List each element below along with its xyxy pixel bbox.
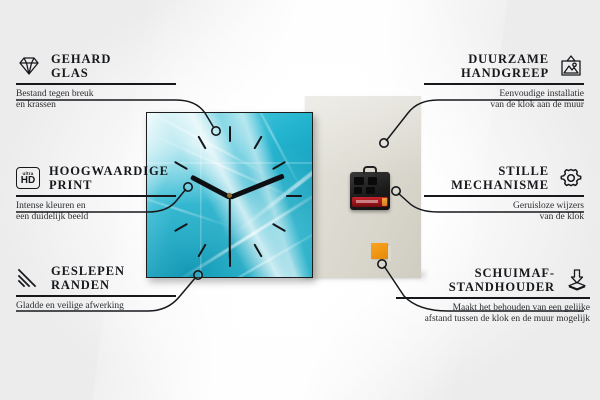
feature-header: GESLEPEN RANDEN <box>16 264 192 292</box>
feature-desc-line1: Maakt het behouden van een gelijke <box>380 303 590 315</box>
feature-desc-line1: Intense kleuren en <box>16 201 192 213</box>
movement-detail <box>354 177 364 185</box>
battery <box>352 197 388 207</box>
feature-stille-mechanisme[interactable]: STILLE MECHANISME Geruisloze wijzers van… <box>408 164 584 224</box>
feature-desc-line2: en krassen <box>16 100 188 112</box>
hour-marker-12 <box>229 126 231 142</box>
feature-divider <box>396 297 590 299</box>
feature-title: STILLE MECHANISME <box>451 164 549 192</box>
feature-desc-line1: Gladde en veilige afwerking <box>16 301 192 313</box>
feature-title: GEHARD GLAS <box>51 52 111 80</box>
feature-desc-line1: Geruisloze wijzers <box>408 201 584 213</box>
feature-schuimafstandhouder[interactable]: SCHUIMAF- STANDHOUDER Maakt het behouden… <box>380 266 590 326</box>
feature-desc-line2: afstand tussen de klok en de muur mogeli… <box>380 314 590 326</box>
movement-detail <box>354 187 362 194</box>
movement-hanger <box>363 166 377 174</box>
feature-title: HOOGWAARDIGE PRINT <box>49 164 169 192</box>
feature-hoogwaardige-print[interactable]: ultra HD HOOGWAARDIGE PRINT Intense kleu… <box>16 164 192 224</box>
foam-spacer-pad <box>371 243 388 259</box>
feature-divider <box>424 83 584 85</box>
feature-gehard-glas[interactable]: GEHARD GLAS Bestand tegen breuk en krass… <box>16 52 188 112</box>
feature-desc-line1: Eenvoudige installatie <box>408 89 584 101</box>
feature-title: SCHUIMAF- STANDHOUDER <box>449 266 555 294</box>
feature-divider <box>424 195 584 197</box>
diamond-icon <box>16 54 42 78</box>
feature-desc-line1: Bestand tegen breuk <box>16 89 188 101</box>
feature-divider <box>16 83 176 85</box>
feature-desc-line2: van de klok aan de muur <box>408 100 584 112</box>
feature-header: ultra HD HOOGWAARDIGE PRINT <box>16 164 192 192</box>
picture-frame-hanger-icon <box>558 54 584 78</box>
feature-title: DUURZAME HANDGREEP <box>461 52 549 80</box>
second-hand <box>229 197 231 259</box>
feature-header: GEHARD GLAS <box>16 52 188 80</box>
infographic-canvas: GEHARD GLAS Bestand tegen breuk en krass… <box>0 0 600 400</box>
hour-marker-3 <box>286 195 302 197</box>
foam-spacer-icon <box>564 268 590 292</box>
feature-title: GESLEPEN RANDEN <box>51 264 125 292</box>
feature-header: STILLE MECHANISME <box>408 164 584 192</box>
movement-detail <box>368 177 377 185</box>
hd-badge-large-text: HD <box>21 176 35 186</box>
gear-icon <box>558 166 584 190</box>
ultra-hd-badge-icon: ultra HD <box>16 167 40 189</box>
feature-header: SCHUIMAF- STANDHOUDER <box>380 266 590 294</box>
feature-header: DUURZAME HANDGREEP <box>408 52 584 80</box>
battery-label <box>356 200 378 203</box>
beveled-edges-icon <box>16 266 42 290</box>
feature-divider <box>16 195 176 197</box>
feature-divider <box>16 295 176 297</box>
feature-duurzame-handgreep[interactable]: DUURZAME HANDGREEP Eenvoudige installati… <box>408 52 584 112</box>
feature-desc-line2: van de klok <box>408 212 584 224</box>
feature-geslepen-randen[interactable]: GESLEPEN RANDEN Gladde en veilige afwerk… <box>16 264 192 312</box>
movement-detail <box>366 187 375 194</box>
quartz-movement <box>350 172 390 210</box>
clock-hands-hub <box>227 193 232 198</box>
feature-desc-line2: een duidelijk beeld <box>16 212 192 224</box>
